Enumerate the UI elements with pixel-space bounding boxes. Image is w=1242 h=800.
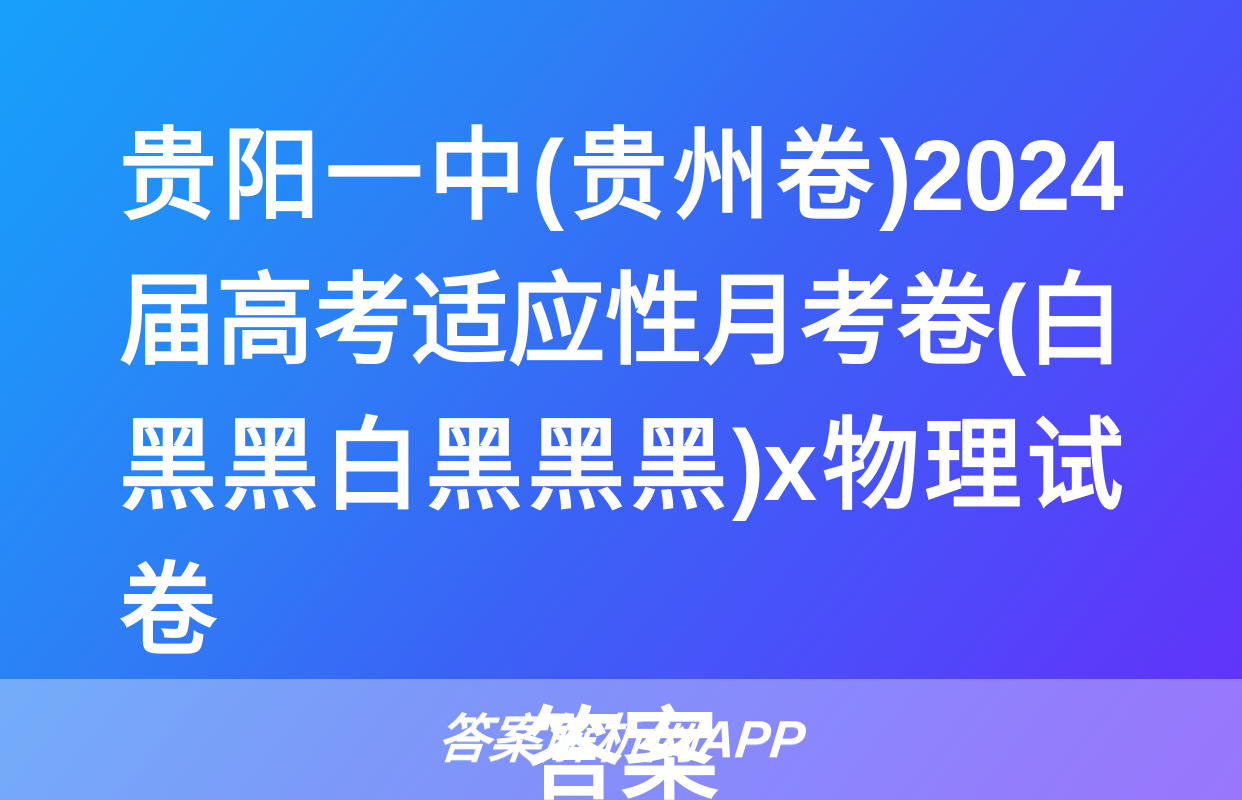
title-line-2: 届高考适应性月考卷(白 bbox=[120, 249, 1123, 394]
footer-banner: 答案解析网APP bbox=[0, 679, 1242, 800]
title-line-1: 贵阳一中(贵州卷)2024 bbox=[120, 104, 1123, 249]
title-line-3: 黑黑白黑黑黑)x物理试卷 bbox=[120, 394, 1123, 684]
app-brand-label: 答案解析网APP bbox=[435, 714, 807, 766]
cover-poster: 贵阳一中(贵州卷)2024 届高考适应性月考卷(白 黑黑白黑黑黑)x物理试卷 答… bbox=[0, 0, 1242, 800]
